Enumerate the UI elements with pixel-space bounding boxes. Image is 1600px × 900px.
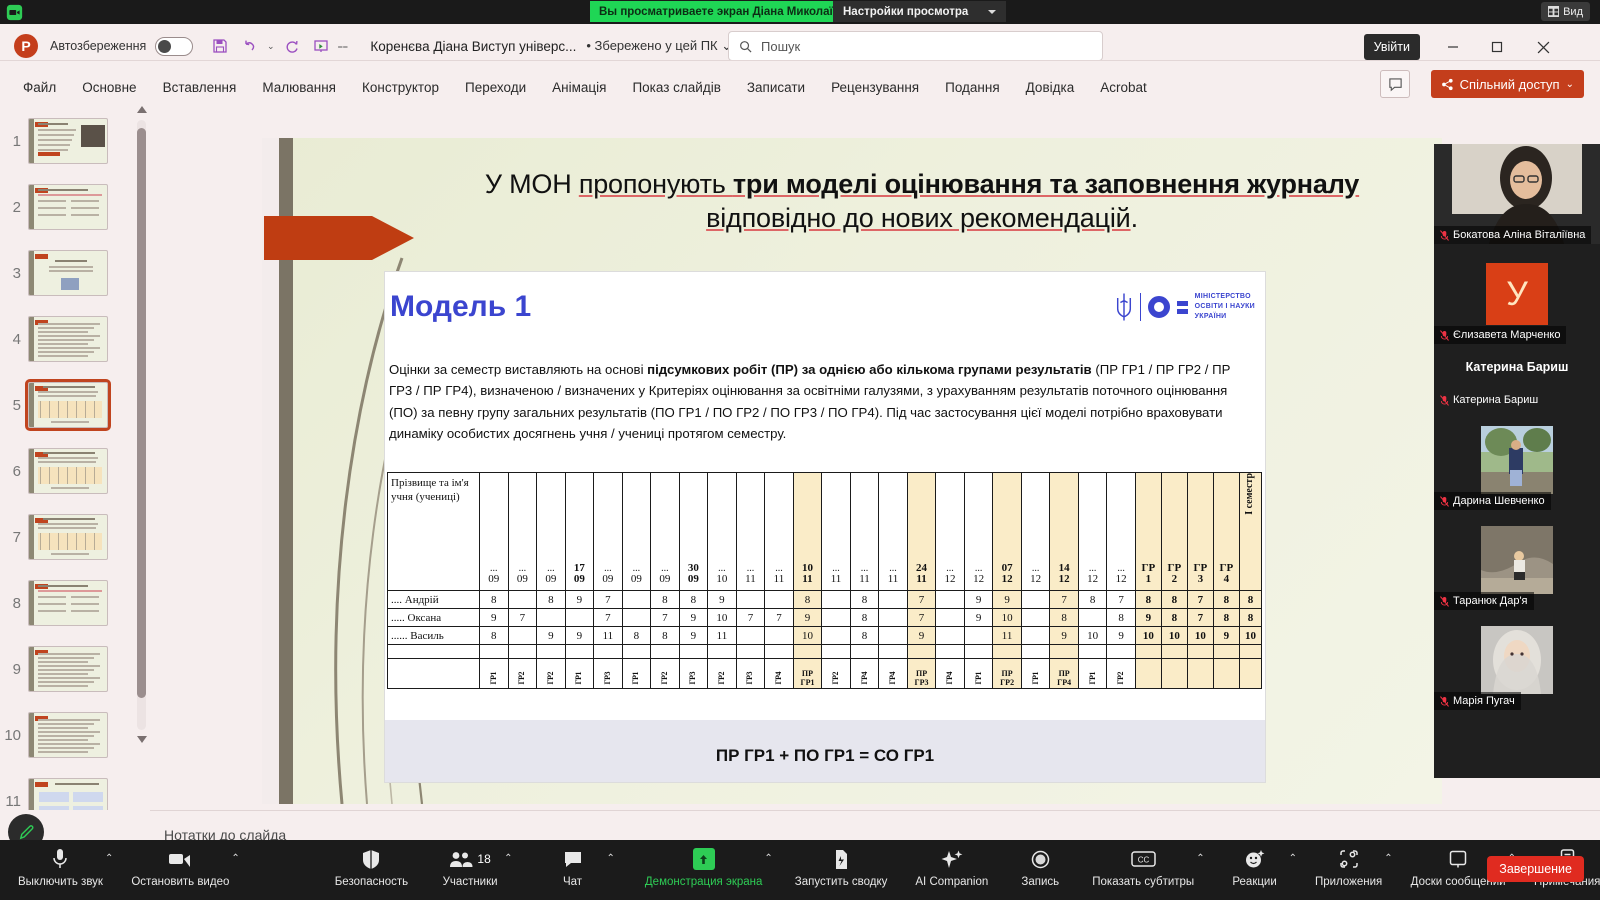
header-date-col-0: ...09 [480, 473, 509, 591]
grade-cell: 7 [594, 609, 623, 627]
grade-cell [822, 609, 851, 627]
grade-cell: 11 [708, 627, 737, 645]
blank-cell [736, 645, 765, 659]
paragraph-segment-1: підсумкових робіт (ПР) за однією або кіл… [647, 362, 1092, 377]
assessment-code-cell: ГР2 [708, 659, 737, 689]
undo-dropdown-icon[interactable]: ⌄ [265, 33, 276, 59]
assessment-code-cell: ПРГР2 [993, 659, 1022, 689]
zoom-toolbar: Выключить звук⌃Остановить видео⌃Безопасн… [0, 840, 1600, 900]
toolbar-participants[interactable]: 18Участники [438, 847, 502, 888]
assessment-code-cell: ГР3 [594, 659, 623, 689]
grade-cell: 10 [993, 609, 1022, 627]
summary-icon [833, 847, 849, 871]
view-button-label: Вид [1563, 6, 1583, 18]
mon-bars-icon [1177, 301, 1188, 314]
thumbnail-preview[interactable] [28, 646, 108, 692]
grade-cell [1021, 609, 1050, 627]
grade-cell [765, 627, 794, 645]
thumbnail-slide-2[interactable]: 2 [0, 176, 150, 238]
blank-cell [793, 645, 822, 659]
grid-icon [1548, 6, 1559, 17]
slide-title: У МОН пропонують три моделі оцінювання т… [452, 168, 1392, 236]
grade-cell: 8 [651, 591, 680, 609]
blank-cell [1021, 645, 1050, 659]
chevron-up-icon[interactable]: ⌃ [607, 853, 615, 864]
participant-name: Таранюк Дар'я [1453, 595, 1528, 607]
participants-icon: 18 [449, 847, 490, 871]
semester-grade-cell: 8 [1239, 609, 1261, 627]
participant-tile[interactable]: Таранюк Дар'я [1434, 510, 1600, 610]
blank-cell [765, 645, 794, 659]
chevron-up-icon[interactable]: ⌃ [764, 853, 772, 864]
grade-cell: 7 [907, 609, 936, 627]
grade-cell: 8 [1050, 609, 1079, 627]
slide-document-card: Модель 1 МІНІСТЕРСТВО ОСВІТИ І НАУКИ [385, 272, 1265, 782]
search-placeholder: Пошук [761, 39, 800, 54]
tab-анімація[interactable]: Анімація [539, 76, 619, 104]
thumbnail-preview[interactable] [28, 514, 108, 560]
thumbnail-preview[interactable] [28, 118, 108, 164]
thumbnail-preview[interactable] [28, 580, 108, 626]
assessment-code-cell [1187, 659, 1213, 689]
header-date-col-4: ...09 [594, 473, 623, 591]
thumbnail-number: 10 [0, 727, 28, 744]
table-blank-row [388, 645, 1262, 659]
grade-cell: 7 [907, 591, 936, 609]
participant-name: Єлизавета Марченко [1453, 329, 1560, 341]
blank-cell [879, 645, 908, 659]
quick-access-toolbar: ⌄ ⩵ [207, 33, 348, 59]
participant-name: Бокатова Аліна Віталіївна [1453, 229, 1585, 241]
header-date-col-19: ...12 [1021, 473, 1050, 591]
cc-icon: CC [1131, 847, 1156, 871]
thumbnail-preview[interactable] [28, 382, 108, 428]
grade-cell: 9 [993, 591, 1022, 609]
grade-cell: 9 [679, 609, 708, 627]
assessment-code-cell: ГР4 [850, 659, 879, 689]
header-date-col-6: ...09 [651, 473, 680, 591]
blank-cell [565, 645, 594, 659]
assessment-code-cell: ГР2 [1107, 659, 1136, 689]
grade-cell [936, 627, 965, 645]
thumbnail-slide-6[interactable]: 6 [0, 440, 150, 502]
header-date-col-11: 1011 [793, 473, 822, 591]
thumbnail-slide-7[interactable]: 7 [0, 506, 150, 568]
whiteboard-icon [1449, 847, 1467, 871]
header-date-col-3: 1709 [565, 473, 594, 591]
participant-name: Катерина Бариш [1466, 360, 1569, 374]
header-date-col-25: ГР3 [1187, 473, 1213, 591]
blank-cell [622, 645, 651, 659]
grade-cell: 10 [1078, 627, 1107, 645]
header-date-col-17: ...12 [964, 473, 993, 591]
ministry-logo: МІНІСТЕРСТВО ОСВІТИ І НАУКИ УКРАЇНИ [1115, 292, 1255, 322]
title-seg-5: . [1131, 203, 1138, 233]
start-slideshow-button[interactable] [308, 33, 334, 59]
scrollbar-thumb[interactable] [137, 128, 146, 698]
grade-cell: 8 [850, 609, 879, 627]
assessment-code-cell: ГР1 [480, 659, 509, 689]
powerpoint-title-bar: P Автозбереження ⌄ ⩵ Коренєва Діа [0, 24, 1600, 68]
blank-cell [907, 645, 936, 659]
header-date-col-8: ...10 [708, 473, 737, 591]
thumbnail-slide-4[interactable]: 4 [0, 308, 150, 370]
student-name-cell: .... Андрій [388, 591, 480, 609]
header-date-col-18: 0712 [993, 473, 1022, 591]
grade-cell [1021, 591, 1050, 609]
grade-cell [508, 591, 537, 609]
slide-stage: У МОН пропонують три моделі оцінювання т… [150, 104, 1600, 810]
blank-cell [1078, 645, 1107, 659]
participant-name-overlay: Бокатова Аліна Віталіївна [1434, 226, 1591, 244]
sign-in-button[interactable]: Увійти [1364, 34, 1420, 60]
grade-cell [936, 609, 965, 627]
participant-tile[interactable]: Катерина Бариш [1434, 390, 1600, 410]
grade-cell: 8 [537, 591, 566, 609]
header-date-col-21: ...12 [1078, 473, 1107, 591]
chevron-up-icon[interactable]: ⌃ [504, 853, 512, 864]
grade-cell: 9 [537, 627, 566, 645]
minimize-button[interactable] [1432, 32, 1474, 62]
search-input[interactable]: Пошук [728, 31, 1103, 61]
grading-journal-table: Прізвище та ім'я учня (учениці)...09...0… [387, 472, 1262, 689]
grade-cell: 8 [793, 591, 822, 609]
toolbar-chat[interactable]: Чат [541, 847, 605, 888]
assessment-code-cell: ПРГР4 [1050, 659, 1079, 689]
toolbar-record[interactable]: Запись [1008, 847, 1072, 888]
thumbnail-number: 1 [0, 133, 28, 150]
grade-cell [822, 627, 851, 645]
thumbnail-number: 2 [0, 199, 28, 216]
chevron-up-icon[interactable]: ⌃ [231, 853, 239, 864]
table-row: ...... Василь899118891110891191091010109… [388, 627, 1262, 645]
save-status[interactable]: • Збережено у цей ПК ⌄ [586, 38, 732, 54]
document-title[interactable]: Коренєва Діана Виступ універс... [370, 39, 576, 54]
assessment-code-cell: ГР1 [964, 659, 993, 689]
header-date-col-13: ...11 [850, 473, 879, 591]
header-date-col-24: ГР2 [1161, 473, 1187, 591]
toolbar-sparkle[interactable]: AI Companion [915, 847, 988, 888]
model-heading: Модель 1 [390, 290, 531, 324]
ministry-text: МІНІСТЕРСТВО ОСВІТИ І НАУКИ УКРАЇНИ [1195, 292, 1255, 322]
thumbnail-number: 9 [0, 661, 28, 678]
avatar: У [1486, 263, 1548, 325]
toolbar-label: Запись [1021, 876, 1059, 888]
header-date-col-23: ГР1 [1135, 473, 1161, 591]
tab-переходи[interactable]: Переходи [452, 76, 539, 104]
title-seg-1: У МОН [485, 169, 579, 199]
assessment-code-cell: ГР2 [508, 659, 537, 689]
ministry-line-1: МІНІСТЕРСТВО [1195, 292, 1255, 302]
grade-cell: 8 [480, 591, 509, 609]
undo-button[interactable] [236, 33, 262, 59]
chevron-up-icon[interactable]: ⌃ [105, 853, 113, 864]
grade-cell [936, 591, 965, 609]
grade-cell: 8 [1135, 591, 1161, 609]
model-description: Оцінки за семестр виставляють на основі … [389, 359, 1254, 445]
header-date-col-26: ГР4 [1213, 473, 1239, 591]
participant-name: Дарина Шевченко [1453, 495, 1545, 507]
customize-qat-icon[interactable]: ⩵ [337, 33, 348, 59]
blank-cell [1161, 645, 1187, 659]
grade-cell [508, 627, 537, 645]
sparkle-icon [941, 847, 963, 871]
participant-name-overlay: Таранюк Дар'я [1434, 592, 1534, 610]
grade-cell [879, 591, 908, 609]
muted-mic-icon [1440, 330, 1449, 341]
participant-name: Марія Пугач [1453, 695, 1515, 707]
thumbnail-slide-5[interactable]: 5 [0, 374, 150, 436]
assessment-code-cell: ПРГР3 [907, 659, 936, 689]
grade-cell: 7 [736, 609, 765, 627]
blank-cell [1239, 645, 1261, 659]
grade-cell [822, 591, 851, 609]
chevron-down-icon [988, 10, 996, 14]
semester-grade-cell: 10 [1239, 627, 1261, 645]
slide-thumbnail-panel[interactable]: 123456789101112 [0, 104, 150, 810]
thumbnail-preview[interactable] [28, 316, 108, 362]
assessment-code-cell: ГР1 [565, 659, 594, 689]
grade-cell: 9 [1135, 609, 1161, 627]
scroll-up-icon[interactable] [137, 106, 147, 113]
table-header-row: Прізвище та ім'я учня (учениці)...09...0… [388, 473, 1262, 591]
participant-avatar-tile: УЄлизавета Марченко [1434, 244, 1600, 344]
grade-cell: 8 [1107, 609, 1136, 627]
grade-cell: 7 [1187, 609, 1213, 627]
active-speaker-name: Катерина Бариш [1434, 344, 1600, 390]
tab-основне[interactable]: Основне [69, 76, 149, 104]
thumbnail-slide-9[interactable]: 9 [0, 638, 150, 700]
share-button[interactable]: Спільний доступ ⌄ [1431, 70, 1584, 98]
blank-cell [1135, 645, 1161, 659]
chevron-up-icon[interactable]: ⌃ [1289, 853, 1297, 864]
tab-подання[interactable]: Подання [932, 76, 1013, 104]
grade-cell: 8 [1213, 591, 1239, 609]
thumbnail-number: 3 [0, 265, 28, 282]
student-name-cell: ..... Оксана [388, 609, 480, 627]
thumbnail-preview[interactable] [28, 448, 108, 494]
muted-mic-icon [1440, 395, 1449, 406]
thumbnail-number: 6 [0, 463, 28, 480]
tab-вставлення[interactable]: Вставлення [150, 76, 250, 104]
header-semester: I семестр [1239, 473, 1261, 591]
blank-cell [936, 645, 965, 659]
assessment-code-cell: ГР2 [822, 659, 851, 689]
grade-cell: 7 [508, 609, 537, 627]
grade-cell: 11 [993, 627, 1022, 645]
grade-cell: 9 [1107, 627, 1136, 645]
grade-cell [879, 609, 908, 627]
toolbar-share-screen[interactable]: Демонстрация экрана [645, 847, 763, 888]
save-button[interactable] [207, 33, 233, 59]
autosave-label: Автозбереження [50, 39, 146, 53]
ribbon-divider [0, 60, 1600, 61]
thumbnail-slide-11[interactable]: 11 [0, 770, 150, 810]
grade-cell [736, 591, 765, 609]
comments-button[interactable] [1380, 70, 1410, 98]
grade-cell [537, 609, 566, 627]
tab-конструктор[interactable]: Конструктор [349, 76, 452, 104]
participants-video-panel[interactable]: Бокатова Аліна ВіталіївнаУЄлизавета Марч… [1434, 144, 1600, 778]
tab-малювання[interactable]: Малювання [249, 76, 349, 104]
current-slide[interactable]: У МОН пропонують три моделі оцінювання т… [262, 138, 1442, 804]
tab-рецензування[interactable]: Рецензування [818, 76, 932, 104]
assessment-code-cell: ГР1 [1021, 659, 1050, 689]
chevron-up-icon[interactable]: ⌃ [1196, 853, 1204, 864]
thumbnail-preview[interactable] [28, 778, 108, 810]
toolbar-summary[interactable]: Запустить сводку [795, 847, 888, 888]
thumbnail-number: 8 [0, 595, 28, 612]
participant-photo-tile: Дарина Шевченко [1434, 410, 1600, 510]
thumbnail-slide-1[interactable]: 1 [0, 110, 150, 172]
semester-grade-cell: 8 [1239, 591, 1261, 609]
grade-cell: 9 [565, 591, 594, 609]
participant-photo-tile: Марія Пугач [1434, 610, 1600, 710]
powerpoint-body: 123456789101112 [0, 104, 1600, 810]
tab-записати[interactable]: Записати [734, 76, 818, 104]
assessment-code-cell [1161, 659, 1187, 689]
thumbnail-number: 7 [0, 529, 28, 546]
tab-файл[interactable]: Файл [10, 76, 69, 104]
muted-mic-icon [1440, 696, 1449, 707]
toolbar-camera[interactable]: Остановить видео [131, 847, 229, 888]
header-date-col-2: ...09 [537, 473, 566, 591]
participant-tile[interactable]: Катерина Бариш [1434, 344, 1600, 390]
header-date-col-1: ...09 [508, 473, 537, 591]
header-date-col-15: 2411 [907, 473, 936, 591]
muted-mic-icon [1440, 496, 1449, 507]
autosave-toggle[interactable] [155, 37, 193, 56]
paragraph-segment-0: Оцінки за семестр виставляють на основі [389, 362, 647, 377]
thumbnail-slide-3[interactable]: 3 [0, 242, 150, 304]
header-date-col-12: ...11 [822, 473, 851, 591]
view-layout-button[interactable]: Вид [1541, 2, 1590, 21]
thumbnail-preview[interactable] [28, 184, 108, 230]
grade-cell [879, 627, 908, 645]
thumbnail-preview[interactable] [28, 250, 108, 296]
grade-cell: 8 [651, 627, 680, 645]
code-row-label [388, 659, 480, 689]
thumbnail-number: 5 [0, 397, 28, 414]
toolbar-label: Реакции [1232, 876, 1276, 888]
grade-cell: 8 [850, 627, 879, 645]
toolbar-label: Показать субтитры [1092, 876, 1194, 888]
toolbar-label: Участники [443, 876, 498, 888]
tab-acrobat[interactable]: Acrobat [1087, 76, 1160, 104]
header-date-col-5: ...09 [622, 473, 651, 591]
toolbar-cc[interactable]: CCПоказать субтитры [1092, 847, 1194, 888]
grade-cell: 7 [594, 591, 623, 609]
blank-cell [480, 645, 509, 659]
assessment-code-cell [1135, 659, 1161, 689]
toolbar-reactions[interactable]: Реакции [1223, 847, 1287, 888]
header-date-col-7: 3009 [679, 473, 708, 591]
table-row: ..... Оксана9777910779879108898788 [388, 609, 1262, 627]
svg-text:CC: CC [1137, 856, 1149, 865]
powerpoint-app-icon: P [14, 34, 38, 58]
grade-cell: 9 [964, 609, 993, 627]
toolbar-label: Безопасность [335, 876, 408, 888]
pen-icon [17, 823, 36, 842]
grade-cell [622, 609, 651, 627]
blank-cell [651, 645, 680, 659]
title-seg-2: пропонують [579, 169, 733, 199]
toolbar-label: Запустить сводку [795, 876, 888, 888]
toolbar-apps[interactable]: Приложения [1315, 847, 1382, 888]
view-settings-button[interactable]: Настройки просмотра [833, 1, 1006, 22]
assessment-code-cell: ГР3 [679, 659, 708, 689]
thumbnail-scrollbar[interactable] [137, 106, 146, 806]
record-icon [1031, 847, 1050, 871]
grade-cell: 7 [1187, 591, 1213, 609]
save-status-text: • Збережено у цей ПК [586, 38, 717, 53]
participant-tile[interactable]: Дарина Шевченко [1434, 410, 1600, 510]
blank-cell [594, 645, 623, 659]
redo-button[interactable] [279, 33, 305, 59]
participant-tile[interactable]: Марія Пугач [1434, 610, 1600, 710]
scroll-down-icon[interactable] [137, 736, 147, 743]
blank-cell [1187, 645, 1213, 659]
grade-cell: 8 [480, 627, 509, 645]
title-seg-3: три моделі оцінювання та заповнення журн… [733, 169, 1359, 199]
grade-cell [964, 627, 993, 645]
grade-cell: 9 [964, 591, 993, 609]
thumbnail-slide-8[interactable]: 8 [0, 572, 150, 634]
maximize-button[interactable] [1476, 32, 1518, 62]
camera-icon [168, 847, 192, 871]
mon-circle-icon [1148, 296, 1170, 318]
thumbnail-preview[interactable] [28, 712, 108, 758]
blank-cell [850, 645, 879, 659]
header-date-col-22: ...12 [1107, 473, 1136, 591]
grade-cell: 7 [651, 609, 680, 627]
close-button[interactable] [1522, 32, 1564, 62]
toolbar-label: Приложения [1315, 876, 1382, 888]
grade-cell: 11 [594, 627, 623, 645]
header-date-col-20: 1412 [1050, 473, 1079, 591]
toolbar-microphone[interactable]: Выключить звук [18, 847, 103, 888]
assessment-code-cell: ГР2 [537, 659, 566, 689]
apps-icon [1339, 847, 1359, 871]
participant-count: 18 [477, 852, 490, 866]
participant-tile[interactable]: УЄлизавета Марченко [1434, 244, 1600, 344]
grade-cell: 9 [565, 627, 594, 645]
assessment-code-cell: ГР4 [936, 659, 965, 689]
grade-cell [736, 627, 765, 645]
tab-довідка[interactable]: Довідка [1013, 76, 1088, 104]
slide-arrow-accent [264, 216, 414, 260]
grade-cell [622, 591, 651, 609]
grade-cell: 8 [850, 591, 879, 609]
tab-показ-слайдів[interactable]: Показ слайдів [619, 76, 733, 104]
blank-cell [1107, 645, 1136, 659]
participant-tile[interactable]: Бокатова Аліна Віталіївна [1434, 144, 1600, 244]
grade-cell: 7 [765, 609, 794, 627]
sharing-status-text: Вы просматриваете экран Діана Миколаївна [599, 6, 853, 18]
chevron-up-icon[interactable]: ⌃ [1384, 853, 1392, 864]
thumbnail-slide-10[interactable]: 10 [0, 704, 150, 766]
end-meeting-button[interactable]: Завершение [1487, 856, 1584, 882]
thumbnail-number: 11 [0, 793, 28, 810]
assessment-code-cell: ГР2 [651, 659, 680, 689]
toolbar-label: Демонстрация экрана [645, 876, 763, 888]
blank-cell [1213, 645, 1239, 659]
ministry-line-2: ОСВІТИ І НАУКИ [1195, 302, 1255, 312]
header-date-col-10: ...11 [765, 473, 794, 591]
grade-cell: 9 [480, 609, 509, 627]
grade-cell: 9 [793, 609, 822, 627]
toolbar-shield[interactable]: Безопасность [335, 847, 408, 888]
